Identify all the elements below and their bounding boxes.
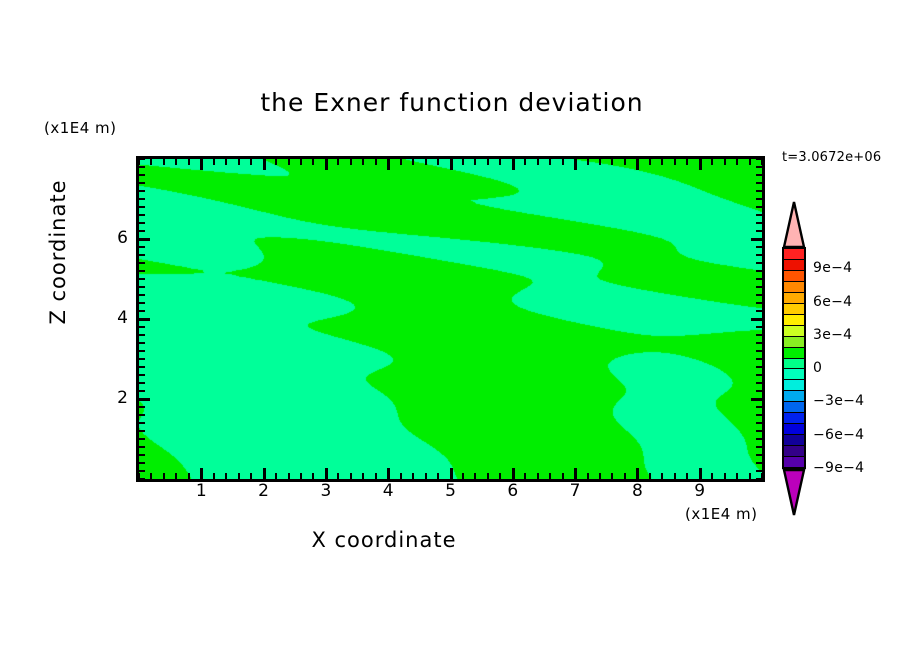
x-minor-tick [462,473,464,479]
x-minor-tick-top [250,159,252,165]
y-minor-tick-right [756,222,762,224]
colorbar-tick-label: 3e−4 [813,327,852,343]
colorbar-tick-label: −3e−4 [813,393,864,409]
x-minor-tick [524,473,526,479]
y-minor-tick-right [756,478,762,480]
x-minor-tick-top [275,159,277,165]
x-minor-tick-top [487,159,489,165]
colorbar-band [784,446,804,457]
x-major-tick-top [450,159,453,170]
x-minor-tick-top [175,159,177,165]
x-tick-label: 3 [311,481,341,501]
x-minor-tick-top [611,159,613,165]
x-minor-tick [250,473,252,479]
x-minor-tick [337,473,339,479]
y-minor-tick [139,366,145,368]
colorbar-band [784,326,804,337]
x-minor-tick-top [337,159,339,165]
y-minor-tick-right [756,190,762,192]
x-minor-tick-top [188,159,190,165]
y-minor-tick-right [756,374,762,376]
y-minor-tick-right [756,358,762,360]
x-minor-tick-top [213,159,215,165]
y-minor-tick [139,166,145,168]
y-major-tick-right [751,238,762,241]
y-minor-tick-right [756,462,762,464]
y-minor-tick [139,278,145,280]
x-minor-tick [275,473,277,479]
x-minor-tick [175,473,177,479]
x-axis-title: X coordinate [0,528,768,552]
colorbar-band [784,391,804,402]
x-major-tick-top [512,159,515,170]
y-minor-tick [139,454,145,456]
y-minor-tick [139,350,145,352]
y-minor-tick-right [756,342,762,344]
x-minor-tick-top [238,159,240,165]
y-axis-title: Z coordinate [46,172,70,332]
contour-plot-area [136,156,765,482]
timestamp-annotation: t=3.0672e+06 [782,150,881,165]
x-minor-tick-top [425,159,427,165]
x-major-tick [699,468,702,479]
x-axis-unit-caption: (x1E4 m) [685,505,758,523]
y-minor-tick [139,302,145,304]
x-minor-tick-top [549,159,551,165]
y-minor-tick-right [756,262,762,264]
x-minor-tick [362,473,364,479]
y-minor-tick [139,342,145,344]
colorbar-band [784,249,804,260]
colorbar-under-arrow-icon [782,468,806,517]
x-minor-tick-top [524,159,526,165]
y-minor-tick-right [756,254,762,256]
x-minor-tick-top [587,159,589,165]
x-minor-tick [562,473,564,479]
x-minor-tick-top [674,159,676,165]
x-minor-tick [736,473,738,479]
x-minor-tick-top [624,159,626,165]
colorbar-band [784,457,804,467]
y-minor-tick-right [756,390,762,392]
x-minor-tick [724,473,726,479]
x-minor-tick-top [499,159,501,165]
x-major-tick-top [263,159,266,170]
colorbar-band [784,402,804,413]
y-minor-tick-right [756,174,762,176]
y-minor-tick [139,462,145,464]
x-minor-tick-top [225,159,227,165]
y-minor-tick [139,294,145,296]
x-major-tick [325,468,328,479]
colorbar-band [784,282,804,293]
y-minor-tick [139,470,145,472]
y-minor-tick [139,390,145,392]
x-minor-tick-top [163,159,165,165]
y-minor-tick-right [756,214,762,216]
x-minor-tick-top [661,159,663,165]
colorbar-band [784,304,804,315]
y-major-tick [139,238,150,241]
x-minor-tick-top [537,159,539,165]
x-minor-tick-top [312,159,314,165]
y-minor-tick-right [756,414,762,416]
y-major-tick-right [751,318,762,321]
y-minor-tick [139,182,145,184]
y-minor-tick-right [756,182,762,184]
colorbar-band [784,271,804,282]
colorbar-band [784,315,804,326]
y-minor-tick [139,358,145,360]
x-minor-tick [711,473,713,479]
y-minor-tick-right [756,470,762,472]
x-minor-tick [412,473,414,479]
x-minor-tick [499,473,501,479]
y-minor-tick [139,326,145,328]
x-minor-tick-top [749,159,751,165]
x-minor-tick-top [288,159,290,165]
y-minor-tick-right [756,366,762,368]
y-minor-tick [139,230,145,232]
y-minor-tick [139,214,145,216]
x-major-tick [263,468,266,479]
x-minor-tick [686,473,688,479]
x-minor-tick-top [686,159,688,165]
colorbar-band [784,260,804,271]
colorbar-band [784,380,804,391]
x-minor-tick [474,473,476,479]
y-minor-tick [139,286,145,288]
x-minor-tick [487,473,489,479]
colorbar-tick-label: −9e−4 [813,460,864,476]
y-minor-tick [139,438,145,440]
x-major-tick [200,468,203,479]
colorbar-bands [782,247,806,469]
y-minor-tick-right [756,406,762,408]
y-tick-label: 4 [104,308,128,328]
x-minor-tick-top [437,159,439,165]
y-minor-tick [139,222,145,224]
x-minor-tick-top [711,159,713,165]
colorbar-band [784,413,804,424]
colorbar-band [784,348,804,359]
x-minor-tick [188,473,190,479]
colorbar-band [784,337,804,348]
x-major-tick [387,468,390,479]
y-minor-tick-right [756,206,762,208]
x-minor-tick-top [462,159,464,165]
y-minor-tick [139,374,145,376]
colorbar-band [784,293,804,304]
y-minor-tick [139,310,145,312]
x-minor-tick [749,473,751,479]
y-minor-tick [139,206,145,208]
y-major-tick-right [751,398,762,401]
x-minor-tick [425,473,427,479]
x-minor-tick [225,473,227,479]
x-minor-tick-top [350,159,352,165]
x-minor-tick [674,473,676,479]
y-minor-tick-right [756,302,762,304]
x-minor-tick-top [375,159,377,165]
colorbar-tick-label: 9e−4 [813,260,852,276]
y-minor-tick [139,334,145,336]
y-minor-tick-right [756,286,762,288]
x-minor-tick [537,473,539,479]
x-minor-tick [238,473,240,479]
x-minor-tick [300,473,302,479]
x-tick-label: 9 [685,481,715,501]
x-tick-label: 2 [249,481,279,501]
colorbar-tick-label: 0 [813,360,822,376]
x-minor-tick [587,473,589,479]
x-tick-label: 7 [560,481,590,501]
y-minor-tick-right [756,430,762,432]
y-minor-tick [139,414,145,416]
y-minor-tick [139,406,145,408]
x-minor-tick-top [736,159,738,165]
y-minor-tick-right [756,198,762,200]
contour-field-canvas [139,159,762,479]
x-minor-tick-top [150,159,152,165]
y-minor-tick [139,422,145,424]
x-minor-tick-top [300,159,302,165]
y-minor-tick [139,158,145,160]
colorbar-over-arrow-icon [782,200,806,249]
x-minor-tick [549,473,551,479]
y-minor-tick-right [756,310,762,312]
x-minor-tick-top [400,159,402,165]
y-minor-tick [139,382,145,384]
x-major-tick-top [200,159,203,170]
colorbar-band [784,435,804,446]
x-major-tick-top [387,159,390,170]
x-minor-tick-top [362,159,364,165]
y-minor-tick [139,174,145,176]
y-major-tick [139,318,150,321]
colorbar-tick-label: −6e−4 [813,427,864,443]
page-title: the Exner function deviation [0,88,904,117]
y-minor-tick-right [756,326,762,328]
y-minor-tick-right [756,294,762,296]
y-minor-tick-right [756,158,762,160]
y-major-tick [139,398,150,401]
y-minor-tick-right [756,334,762,336]
y-minor-tick-right [756,350,762,352]
y-minor-tick [139,270,145,272]
y-minor-tick [139,446,145,448]
y-minor-tick [139,254,145,256]
y-minor-tick-right [756,438,762,440]
x-major-tick [450,468,453,479]
x-minor-tick [437,473,439,479]
y-minor-tick-right [756,246,762,248]
y-minor-tick [139,190,145,192]
colorbar-tick-label: 6e−4 [813,294,852,310]
x-minor-tick [150,473,152,479]
x-major-tick-top [325,159,328,170]
colorbar-band [784,424,804,435]
x-major-tick [574,468,577,479]
y-minor-tick-right [756,166,762,168]
y-minor-tick-right [756,278,762,280]
x-minor-tick [624,473,626,479]
x-major-tick [636,468,639,479]
x-tick-label: 4 [373,481,403,501]
y-minor-tick-right [756,422,762,424]
y-minor-tick [139,478,145,480]
x-minor-tick-top [649,159,651,165]
x-tick-label: 5 [436,481,466,501]
y-minor-tick [139,262,145,264]
x-major-tick [512,468,515,479]
x-tick-label: 1 [186,481,216,501]
x-tick-label: 8 [622,481,652,501]
colorbar-band [784,369,804,380]
y-minor-tick-right [756,446,762,448]
x-minor-tick-top [412,159,414,165]
x-minor-tick-top [562,159,564,165]
x-minor-tick-top [599,159,601,165]
x-major-tick-top [636,159,639,170]
x-minor-tick [163,473,165,479]
x-minor-tick [400,473,402,479]
y-tick-label: 6 [104,228,128,248]
x-minor-tick [350,473,352,479]
colorbar-band [784,359,804,370]
x-minor-tick [661,473,663,479]
x-tick-label: 6 [498,481,528,501]
y-minor-tick-right [756,454,762,456]
x-minor-tick [649,473,651,479]
y-minor-tick [139,246,145,248]
y-minor-tick [139,198,145,200]
x-major-tick-top [699,159,702,170]
x-minor-tick [213,473,215,479]
colorbar: 9e−46e−43e−40−3e−4−6e−4−9e−4 [780,200,810,520]
x-minor-tick [312,473,314,479]
y-minor-tick-right [756,382,762,384]
x-minor-tick [611,473,613,479]
x-minor-tick [288,473,290,479]
x-minor-tick-top [474,159,476,165]
x-minor-tick [599,473,601,479]
y-minor-tick-right [756,270,762,272]
x-major-tick-top [574,159,577,170]
y-minor-tick-right [756,230,762,232]
y-minor-tick [139,430,145,432]
y-axis-unit-caption: (x1E4 m) [44,119,117,137]
y-tick-label: 2 [104,388,128,408]
x-minor-tick [375,473,377,479]
x-minor-tick-top [724,159,726,165]
